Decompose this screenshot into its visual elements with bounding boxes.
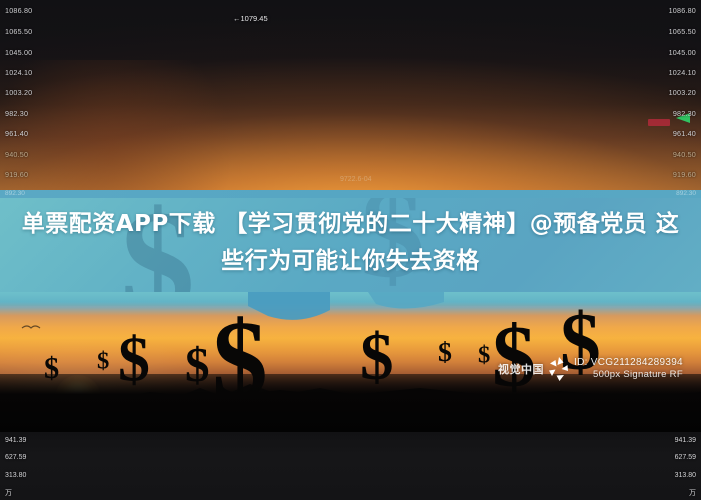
price-axis-label-left-8: 919.60 — [5, 170, 28, 179]
price-axis-label-right-7: 940.50 — [673, 150, 696, 159]
volume-axis-label-left-0: 941.39 — [5, 437, 26, 444]
svg-text:$: $ — [97, 348, 109, 375]
price-axis-label-left-0: 1086.80 — [5, 6, 32, 15]
watermark-brand: 视觉中国 — [498, 361, 544, 377]
separator-label-left: 892.30 — [5, 190, 25, 197]
price-separator-bar: 892.30 892.30 — [0, 190, 701, 198]
watermark-text-group: ID: VCG211284289394 500px Signature RF — [574, 357, 683, 381]
volume-axis-unit-right: 万 — [689, 488, 696, 498]
teal-overlap-shape-2 — [368, 292, 444, 309]
price-chart-panel: 1086.80 1065.50 1045.00 1024.10 1003.20 … — [0, 0, 701, 190]
price-axis-label-right-0: 1086.80 — [669, 6, 696, 15]
price-axis-label-right-5: 982.30 — [673, 109, 696, 118]
dollar-sign-icon-6-tiny: $ — [97, 348, 109, 375]
price-axis-label-left-1: 1065.50 — [5, 27, 32, 36]
svg-text:$: $ — [478, 342, 490, 369]
volume-axis-label-left-1: 627.59 — [5, 454, 26, 461]
price-axis-label-left-7: 940.50 — [5, 150, 28, 159]
screenshot-root: 1086.80 1065.50 1045.00 1024.10 1003.20 … — [0, 0, 701, 500]
price-axis-label-left-2: 1045.00 — [5, 48, 32, 57]
volume-axis-label-right-0: 941.39 — [675, 437, 696, 444]
volume-chart-panel: 941.39 627.59 313.80 万 941.39 627.59 313… — [0, 432, 701, 500]
annotation-arrow-icon: ← — [233, 14, 241, 23]
price-chart-canvas — [0, 0, 701, 190]
price-axis-label-right-8: 919.60 — [673, 170, 696, 179]
price-center-faint-label: 9722.6-04 — [340, 176, 372, 183]
volume-axis-label-right-1: 627.59 — [675, 454, 696, 461]
volume-chart-canvas — [0, 432, 701, 500]
sunburst-icon — [548, 356, 570, 382]
price-axis-label-right-6: 961.40 — [673, 129, 696, 138]
separator-label-right: 892.30 — [676, 190, 696, 197]
volume-axis-unit-left: 万 — [5, 488, 12, 498]
price-axis-label-left-5: 982.30 — [5, 109, 28, 118]
volume-axis-label-left-2: 313.80 — [5, 472, 26, 479]
headline-title: 单票配资APP下载 【学习贯彻党的二十大精神】@预备党员 这些行为可能让你失去资… — [0, 206, 701, 280]
dark-foreground — [0, 374, 701, 432]
watermark-signature: 500px Signature RF — [574, 369, 683, 381]
price-axis-label-right-4: 1003.20 — [669, 88, 696, 97]
price-axis-label-right-1: 1065.50 — [669, 27, 696, 36]
dollar-sign-icon-7-tiny: $ — [438, 337, 452, 368]
bird-icon — [22, 326, 40, 328]
price-axis-label-left-4: 1003.20 — [5, 88, 32, 97]
watermark-id: ID: VCG211284289394 — [574, 357, 683, 369]
dollar-sign-icon-8-tiny: $ — [478, 342, 490, 369]
price-annotation: ←1079.45 — [233, 14, 268, 23]
headline-overlay-band: $ $ 单票配资APP下载 【学习贯彻党的二十大精神】@预备党员 这些行为可能让… — [0, 198, 701, 292]
price-axis-label-right-3: 1024.10 — [669, 68, 696, 77]
price-axis-label-left-6: 961.40 — [5, 129, 28, 138]
watermark: 视觉中国 ID: VCG211284289394 500px Signature… — [498, 356, 683, 382]
annotation-value: 1079.45 — [241, 14, 268, 23]
volume-axis-label-right-2: 313.80 — [675, 472, 696, 479]
svg-text:$: $ — [438, 337, 452, 368]
price-axis-label-right-2: 1045.00 — [669, 48, 696, 57]
price-axis-label-left-3: 1024.10 — [5, 68, 32, 77]
